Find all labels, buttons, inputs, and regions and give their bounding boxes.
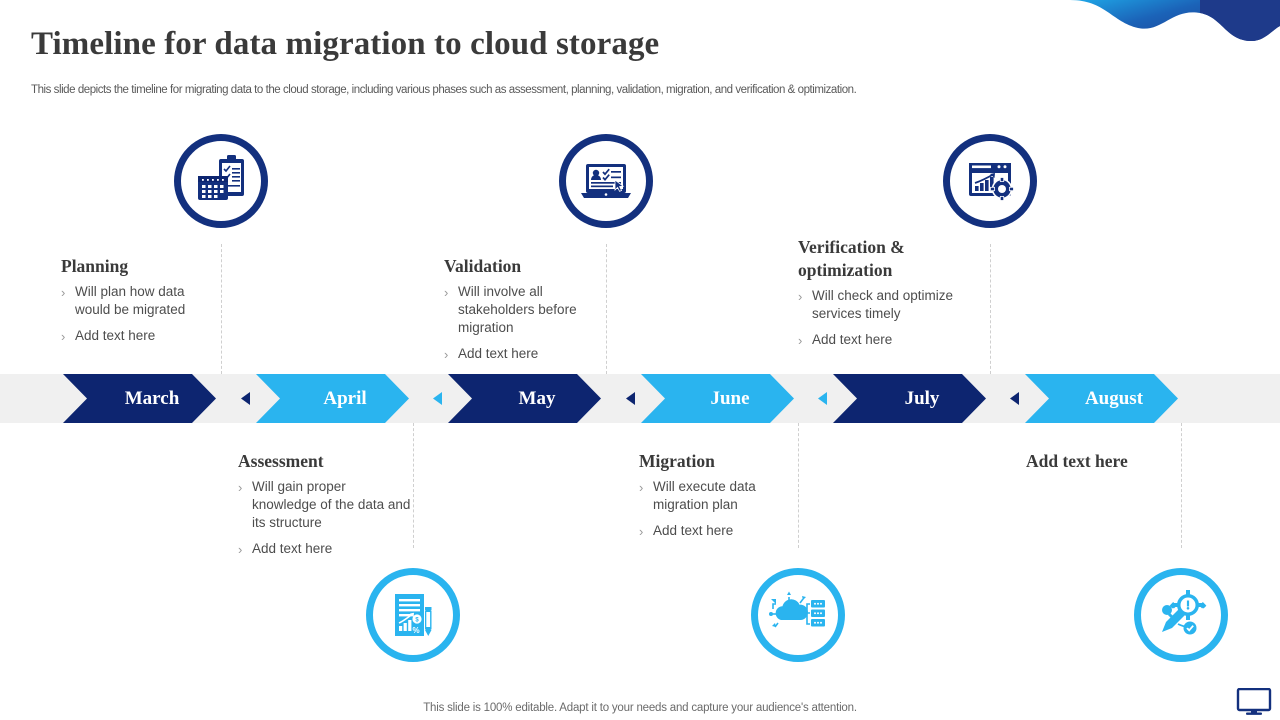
connector-arrow-5 bbox=[1010, 392, 1019, 405]
phase-title: Verification & optimization bbox=[798, 236, 990, 282]
bullet-item: › Will check and optimize services timel… bbox=[798, 287, 990, 323]
page-title: Timeline for data migration to cloud sto… bbox=[31, 26, 659, 63]
monitor-icon[interactable] bbox=[1236, 688, 1272, 716]
bullet-text: Will gain proper knowledge of the data a… bbox=[252, 478, 413, 532]
month-label-august[interactable]: August bbox=[1049, 374, 1179, 423]
icon-circle-validation[interactable] bbox=[559, 134, 653, 228]
chevron-right-icon: › bbox=[798, 331, 812, 350]
chevron-right-icon: › bbox=[639, 478, 653, 497]
chevron-right-icon: › bbox=[444, 345, 458, 364]
dashboard-gear-icon bbox=[961, 152, 1019, 210]
bullet-text: Add text here bbox=[653, 522, 733, 540]
connector-line-planning bbox=[221, 244, 222, 374]
laptop-checklist-icon bbox=[577, 152, 635, 210]
phase-title: Assessment bbox=[238, 450, 413, 473]
phase-title: Add text here bbox=[1026, 450, 1206, 473]
month-label-april[interactable]: April bbox=[280, 374, 410, 423]
month-label-june[interactable]: June bbox=[665, 374, 795, 423]
phase-title: Validation bbox=[444, 255, 609, 278]
connector-arrow-3 bbox=[626, 392, 635, 405]
phase-title: Migration bbox=[639, 450, 799, 473]
phase-final: Add text here bbox=[1026, 450, 1206, 478]
bullet-text: Add text here bbox=[812, 331, 892, 349]
bullet-text: Add text here bbox=[75, 327, 155, 345]
icon-circle-final[interactable] bbox=[1134, 568, 1228, 662]
phase-migration: Migration › Will execute data migration … bbox=[639, 450, 799, 549]
icon-circle-migration[interactable] bbox=[751, 568, 845, 662]
bullet-item: › Will plan how data would be migrated bbox=[61, 283, 221, 319]
calendar-clipboard-icon bbox=[192, 152, 250, 210]
footer-note: This slide is 100% editable. Adapt it to… bbox=[0, 702, 1280, 714]
connector-arrow-2 bbox=[433, 392, 442, 405]
month-label-march[interactable]: March bbox=[87, 374, 217, 423]
bullet-item: › Add text here bbox=[798, 331, 990, 350]
connector-arrow-4 bbox=[818, 392, 827, 405]
bullet-text: Will check and optimize services timely bbox=[812, 287, 990, 323]
bullet-text: Add text here bbox=[252, 540, 332, 558]
chevron-right-icon: › bbox=[444, 283, 458, 302]
month-label-may[interactable]: May bbox=[472, 374, 602, 423]
connector-line-assessment bbox=[413, 423, 414, 548]
bullet-text: Will involve all stakeholders before mig… bbox=[458, 283, 609, 337]
connector-line-final bbox=[1181, 423, 1182, 548]
chevron-right-icon: › bbox=[639, 522, 653, 541]
page-subtitle: This slide depicts the timeline for migr… bbox=[31, 84, 856, 96]
bullet-text: Will execute data migration plan bbox=[653, 478, 799, 514]
bullet-text: Add text here bbox=[458, 345, 538, 363]
bullet-item: › Add text here bbox=[238, 540, 413, 559]
bullet-item: › Add text here bbox=[639, 522, 799, 541]
connector-line-verification bbox=[990, 244, 991, 374]
bullet-item: › Will involve all stakeholders before m… bbox=[444, 283, 609, 337]
phase-title: Planning bbox=[61, 255, 221, 278]
phase-assessment: Assessment › Will gain proper knowledge … bbox=[238, 450, 413, 567]
chevron-right-icon: › bbox=[61, 327, 75, 346]
chevron-right-icon: › bbox=[238, 540, 252, 559]
icon-circle-planning[interactable] bbox=[174, 134, 268, 228]
bullet-item: › Add text here bbox=[61, 327, 221, 346]
phase-verification: Verification & optimization › Will check… bbox=[798, 236, 990, 358]
icon-circle-assessment[interactable]: $ % bbox=[366, 568, 460, 662]
chevron-right-icon: › bbox=[798, 287, 812, 306]
bullet-item: › Add text here bbox=[444, 345, 609, 364]
icon-circle-verification[interactable] bbox=[943, 134, 1037, 228]
bullet-text: Will plan how data would be migrated bbox=[75, 283, 221, 319]
phase-planning: Planning › Will plan how data would be m… bbox=[61, 255, 221, 354]
report-pen-icon: $ % bbox=[384, 586, 442, 644]
month-label-july[interactable]: July bbox=[857, 374, 987, 423]
cloud-servers-icon bbox=[769, 586, 827, 644]
svg-text:%: % bbox=[412, 626, 419, 635]
pen-gear-check-icon bbox=[1152, 586, 1210, 644]
wave-graphic bbox=[1050, 0, 1280, 78]
chevron-right-icon: › bbox=[238, 478, 252, 497]
chevron-right-icon: › bbox=[61, 283, 75, 302]
connector-arrow-1 bbox=[241, 392, 250, 405]
bullet-item: › Will gain proper knowledge of the data… bbox=[238, 478, 413, 532]
slide-canvas: Timeline for data migration to cloud sto… bbox=[0, 0, 1280, 720]
phase-validation: Validation › Will involve all stakeholde… bbox=[444, 255, 609, 372]
bullet-item: › Will execute data migration plan bbox=[639, 478, 799, 514]
